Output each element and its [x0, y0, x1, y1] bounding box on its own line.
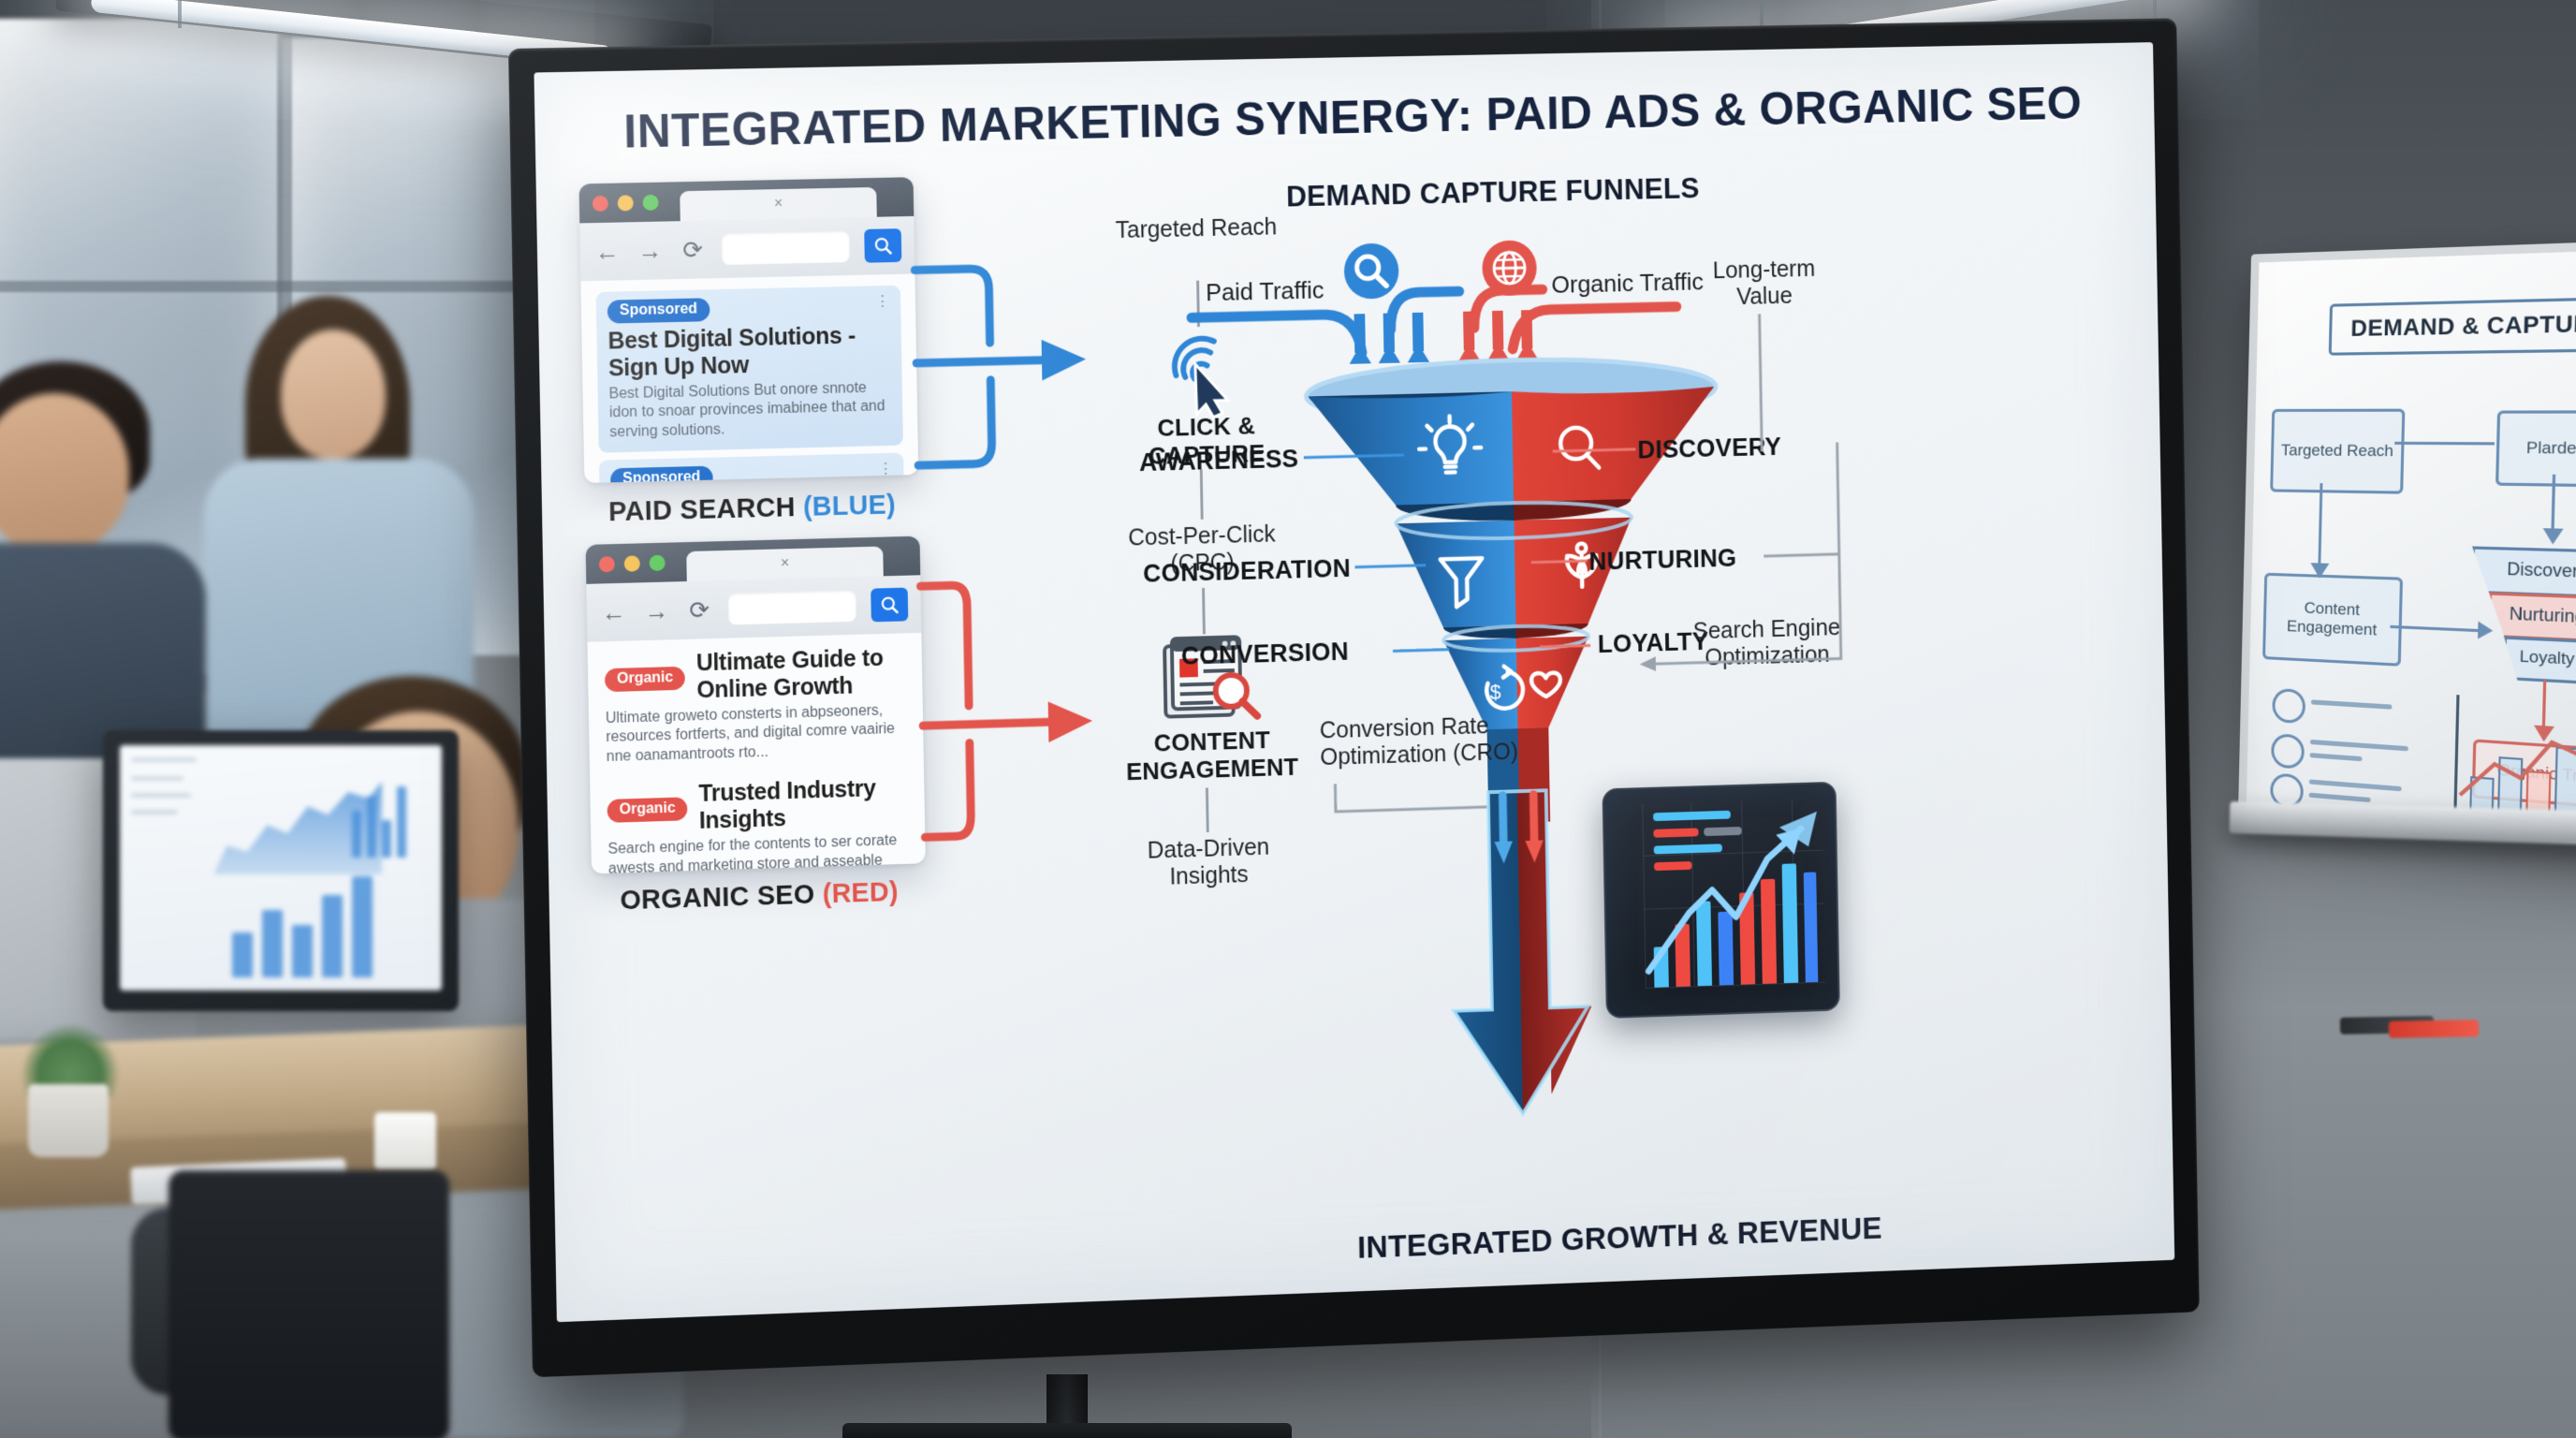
stage-label-consideration: CONSIDERATION	[1143, 554, 1351, 589]
reload-icon[interactable]: ⟳	[685, 595, 713, 624]
status-badge: Organic	[605, 666, 685, 691]
cro-note: Conversion Rate Optimization (CRO)	[1320, 712, 1539, 770]
window-minimize-dot[interactable]	[624, 555, 640, 571]
window-maximize-dot[interactable]	[642, 195, 658, 211]
whiteboard-arrowhead	[2310, 563, 2329, 579]
address-bar-input[interactable]	[722, 230, 850, 265]
seo-connector	[1625, 442, 1863, 696]
whiteboard-title: DEMAND & CAPTURE	[2329, 297, 2576, 356]
status-badge: Sponsored	[610, 466, 712, 483]
paid-search-label: PAID SEARCH (BLUE)	[585, 490, 920, 529]
search-result-row[interactable]: Organic Trusted Industry Insights Search…	[605, 771, 912, 874]
forward-arrow-icon[interactable]: →	[636, 236, 664, 265]
data-driven-insights-note: Data-Driven Insights	[1111, 833, 1306, 893]
organic-seo-label-text: ORGANIC SEO	[620, 880, 815, 917]
search-icon[interactable]	[864, 228, 901, 263]
chart-trend-arrow	[1640, 802, 1832, 992]
slide-content: INTEGRATED MARKETING SYNERGY: PAID ADS &…	[534, 42, 2174, 1322]
targeted-reach-note: Targeted Reach	[1100, 213, 1293, 244]
result-description: Best Digital Solutions But onore snnote …	[608, 378, 892, 442]
window-minimize-dot[interactable]	[618, 195, 634, 211]
whiteboard-arrowhead-3	[2542, 528, 2563, 545]
forward-arrow-icon[interactable]: →	[642, 596, 670, 625]
whiteboard-box-content-engagement: Content Engagement	[2262, 573, 2403, 667]
back-arrow-icon[interactable]: ←	[600, 598, 628, 627]
browser-toolbar: ← → ⟳	[579, 216, 915, 281]
window-close-dot[interactable]	[599, 556, 615, 572]
leader-line	[1531, 557, 1588, 565]
whiteboard-list-icon-2	[2271, 733, 2305, 770]
stage-label-conversion: CONVERSION	[1181, 638, 1350, 671]
whiteboard: DEMAND & CAPTURE Targeted Reach Content …	[2238, 240, 2576, 849]
whiteboard-funnel-label-discovery: Discovery	[2471, 550, 2576, 591]
whiteboard-arrow-2	[2318, 483, 2322, 571]
search-result-row[interactable]: ⋮ Sponsored Top Rated Services Our boair…	[599, 453, 906, 483]
search-result-row[interactable]: Organic Ultimate Guide to Online Growth …	[603, 640, 910, 772]
whiteboard-arrow	[2394, 442, 2495, 446]
coffee-mug	[374, 1112, 436, 1170]
svg-text:$: $	[1489, 681, 1500, 704]
organic-seo-label-color: (RED)	[822, 877, 899, 909]
whiteboard-arrow-4	[2551, 475, 2555, 535]
desk-plant-pot	[28, 1084, 109, 1157]
office-scene: DEMAND & CAPTURE Targeted Reach Content …	[0, 0, 2576, 1438]
wall-monitor: INTEGRATED MARKETING SYNERGY: PAID ADS &…	[508, 18, 2200, 1377]
window-maximize-dot[interactable]	[650, 555, 666, 571]
paid-search-label-color: (BLUE)	[803, 491, 896, 522]
result-description: Ultimate groweto consterts in abpseoners…	[606, 701, 898, 767]
growth-chart-panel	[1603, 782, 1840, 1019]
office-chair	[168, 1170, 449, 1438]
whiteboard-list-icon	[2272, 688, 2305, 725]
address-bar-input[interactable]	[728, 590, 856, 625]
overflow-menu-icon[interactable]: ⋮	[874, 297, 890, 307]
window-close-dot[interactable]	[593, 196, 608, 212]
whiteboard-funnel-label-loyalty: Loyalty	[2503, 640, 2576, 677]
organic-seo-label: ORGANIC SEO (RED)	[592, 876, 926, 917]
result-title[interactable]: Ultimate Guide to Online Growth	[696, 645, 897, 705]
bottom-caption: INTEGRATED GROWTH & REVENUE	[1339, 1211, 1900, 1267]
status-badge: Organic	[607, 797, 687, 823]
result-title[interactable]: Trusted Industry Insights	[698, 775, 899, 835]
content-engagement-caption: CONTENT ENGAGEMENT	[1109, 726, 1315, 786]
browser-tab[interactable]: ×	[680, 187, 877, 221]
whiteboard-box-targeted-reach: Targeted Reach	[2270, 409, 2405, 494]
connector-dash-4	[1206, 787, 1209, 832]
desk-monitor-screen	[120, 745, 442, 990]
browser-titlebar: ×	[579, 177, 915, 223]
monitor-stand-base	[842, 1423, 1292, 1438]
browser-tab[interactable]: ×	[686, 547, 884, 581]
browser-toolbar: ← → ⟳	[586, 575, 921, 641]
paid-search-label-text: PAID SEARCH	[608, 492, 796, 527]
back-arrow-icon[interactable]: ←	[593, 237, 622, 266]
connector-dash-2	[1200, 469, 1204, 519]
result-title[interactable]: Best Digital Solutions - Sign Up Now	[607, 322, 890, 383]
organic-seo-browser[interactable]: × ← → ⟳ Organic	[586, 536, 926, 874]
whiteboard-trend-line	[2453, 677, 2576, 829]
whiteboard-funnel-label-nurturing: Nurturing	[2488, 596, 2576, 635]
whiteboard-arrow-3	[2390, 625, 2480, 632]
window-mullion-h	[0, 281, 562, 292]
search-results-list: ⋮ Sponsored Best Digital Solutions - Sig…	[580, 273, 918, 483]
leader-line	[1540, 642, 1590, 651]
funnel-heading: DEMAND CAPTURE FUNNELS	[1248, 171, 1738, 214]
status-badge: Sponsored	[607, 298, 710, 323]
monitor-screen: INTEGRATED MARKETING SYNERGY: PAID ADS &…	[534, 42, 2174, 1322]
page-title: INTEGRATED MARKETING SYNERGY: PAID ADS &…	[578, 76, 2126, 160]
search-results-list: Organic Ultimate Guide to Online Growth …	[587, 633, 925, 873]
paid-search-browser[interactable]: × ← → ⟳ ⋮ Sponsored	[579, 177, 919, 483]
light-stem	[178, 0, 182, 28]
whiteboard-box-paid: Plardeofo	[2495, 410, 2576, 487]
overflow-menu-icon[interactable]: ⋮	[878, 464, 894, 475]
result-description: Search engine for the contents to ser co…	[607, 832, 900, 874]
search-icon[interactable]	[871, 588, 908, 623]
search-result-row[interactable]: ⋮ Sponsored Best Digital Solutions - Sig…	[596, 286, 903, 453]
reload-icon[interactable]: ⟳	[679, 236, 707, 265]
marker-red	[2389, 1020, 2479, 1038]
stage-label-awareness: AWARENESS	[1139, 445, 1299, 477]
long-term-value-note: Long-term Value	[1691, 256, 1837, 311]
connector-dash-3	[1202, 588, 1206, 635]
